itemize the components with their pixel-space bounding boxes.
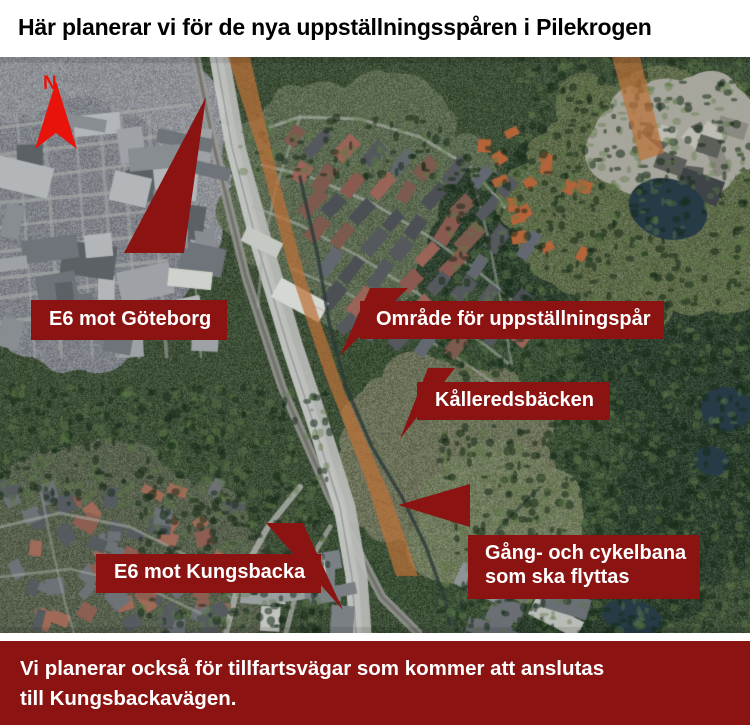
north-arrow-label: N	[43, 74, 57, 93]
map-figure: N E6 mot Göteborg Område för uppställnin…	[0, 57, 750, 633]
callout-e6-goteborg[interactable]: E6 mot Göteborg	[31, 300, 227, 340]
callout-omrade-uppstallningspar[interactable]: Område för uppställningspår	[360, 301, 664, 339]
callout-gang-och-cykelbana[interactable]: Gång- och cykelbana som ska flyttas	[468, 535, 700, 599]
callout-kalleredsbacken[interactable]: Kålleredsbäcken	[417, 382, 610, 420]
page-title: Här planerar vi för de nya uppställnings…	[18, 14, 652, 41]
footer-caption: Vi planerar också för tillfartsvägar som…	[20, 654, 720, 713]
callout-e6-kungsbacka[interactable]: E6 mot Kungsbacka	[96, 554, 321, 593]
callout-label: E6 mot Kungsbacka	[114, 560, 305, 584]
title-bar: Här planerar vi för de nya uppställnings…	[0, 0, 750, 57]
callout-label: Område för uppställningspår	[376, 307, 650, 331]
infographic-page: Här planerar vi för de nya uppställnings…	[0, 0, 750, 725]
footer-caption-bar: Vi planerar också för tillfartsvägar som…	[0, 641, 750, 725]
callout-label: Kålleredsbäcken	[435, 388, 594, 412]
callout-label: Gång- och cykelbana som ska flyttas	[485, 541, 686, 590]
callout-label: E6 mot Göteborg	[49, 307, 211, 331]
